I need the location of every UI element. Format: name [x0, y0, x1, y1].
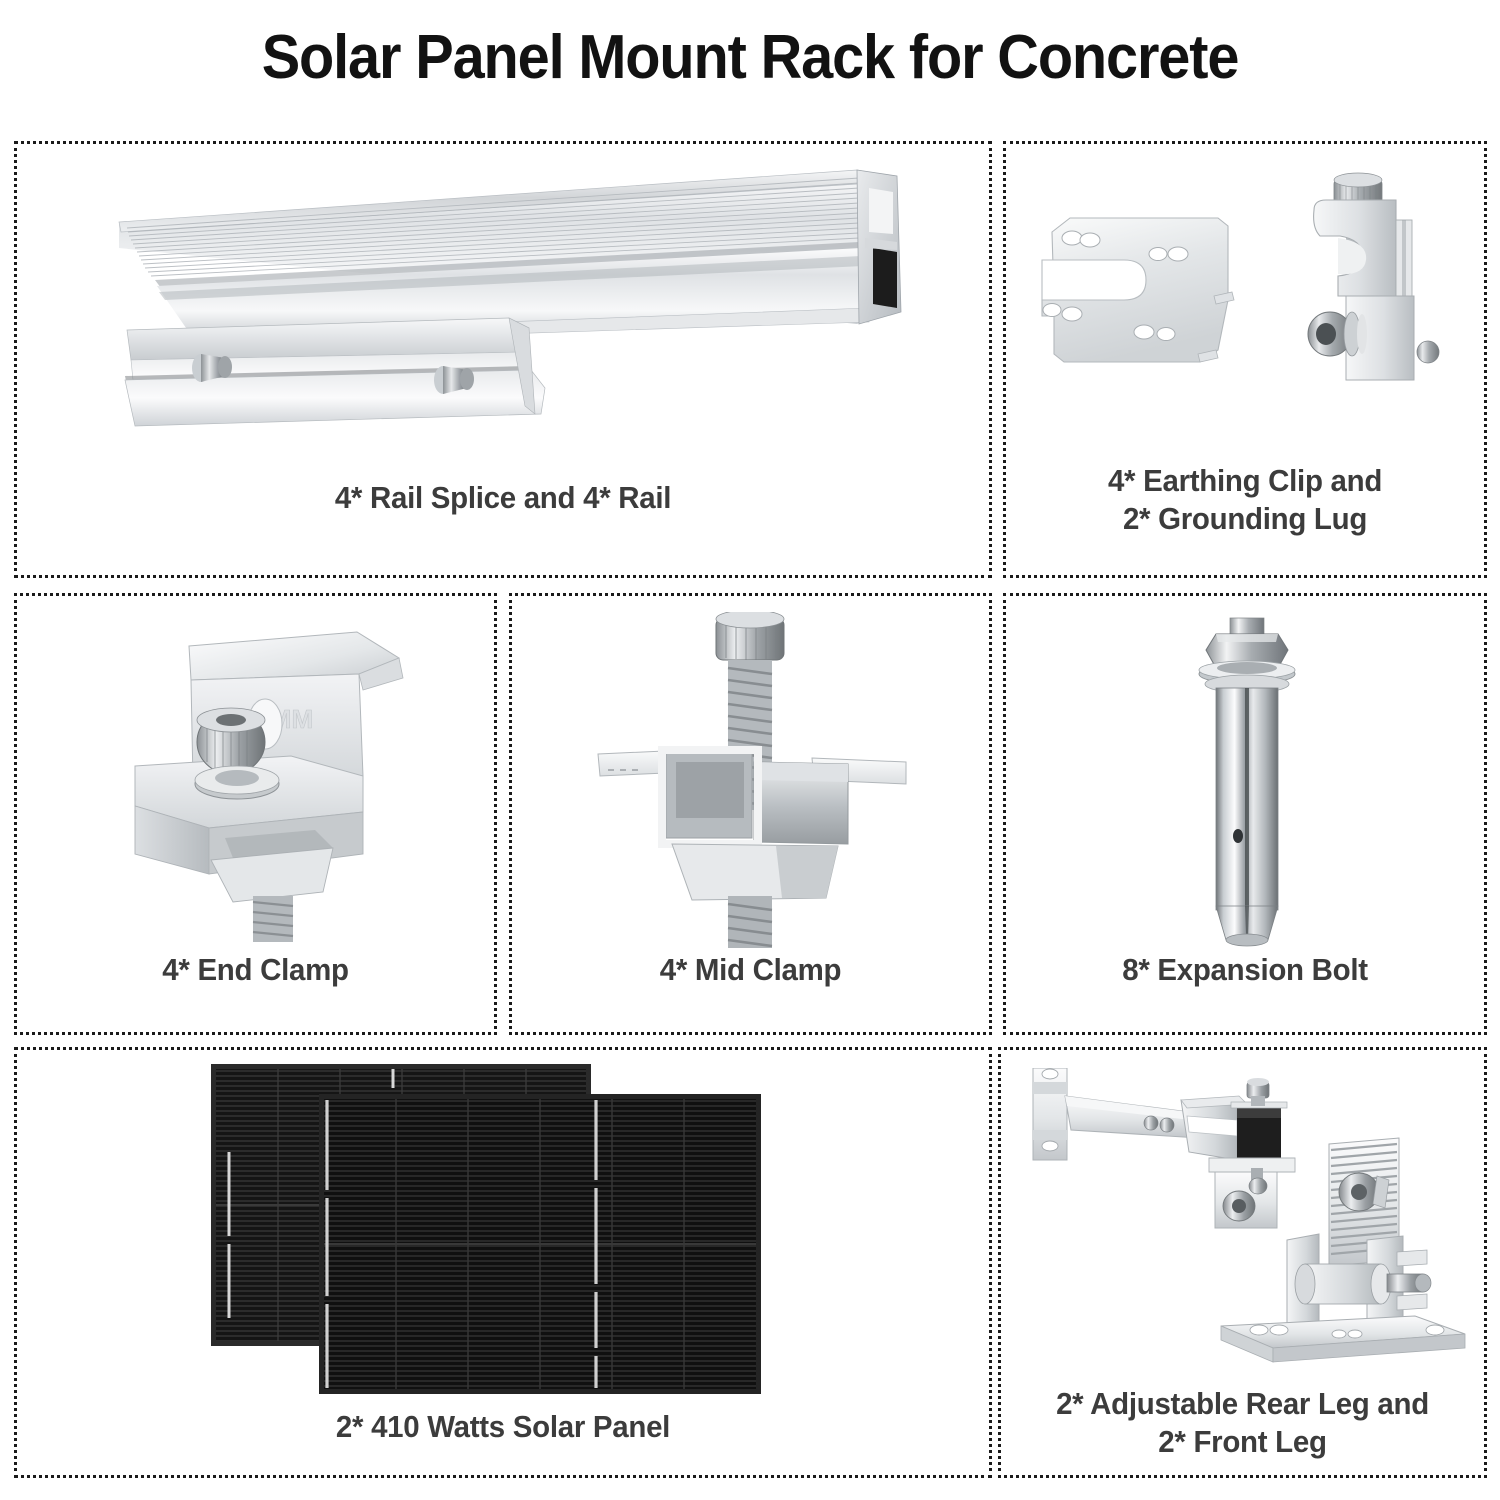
cell-solar-panel: 2* 410 Watts Solar Panel: [14, 1047, 992, 1478]
leg-assembly-icon: [1011, 1068, 1481, 1378]
expansion-bolt-icon: [1168, 610, 1328, 950]
caption-rail-splice-and-rail: 4* Rail Splice and 4* Rail: [41, 479, 964, 517]
solar-panel-front: [319, 1094, 761, 1394]
caption-earthing-clip-line2: 2* Grounding Lug: [1018, 500, 1472, 538]
infographic-page: Solar Panel Mount Rack for Concrete: [0, 0, 1500, 1500]
mid-clamp-icon: [576, 612, 926, 952]
caption-mid-clamp: 4* Mid Clamp: [524, 951, 977, 989]
rail-splice-icon: [105, 314, 575, 454]
caption-expansion-bolt: 8* Expansion Bolt: [1018, 951, 1472, 989]
earthing-clip-icon: [1028, 204, 1308, 404]
cell-earthing-clip-and-grounding-lug: 4* Earthing Clip and 2* Grounding Lug: [1003, 141, 1487, 578]
end-clamp-icon: 30MM: [127, 616, 427, 946]
caption-end-clamp: 4* End Clamp: [29, 951, 482, 989]
rear-leg-icon: [1033, 1068, 1295, 1228]
cell-rail-splice-and-rail: 4* Rail Splice and 4* Rail: [14, 141, 992, 578]
cell-mid-clamp: 4* Mid Clamp: [509, 593, 992, 1035]
grounding-lug-icon: [1278, 166, 1468, 426]
cell-adjustable-rear-leg-and-front-leg: 2* Adjustable Rear Leg and 2* Front Leg: [998, 1047, 1487, 1478]
caption-leg-line2: 2* Front Leg: [1013, 1423, 1472, 1461]
caption-leg-line1: 2* Adjustable Rear Leg and: [1013, 1385, 1472, 1423]
caption-earthing-clip-line1: 4* Earthing Clip and: [1018, 462, 1472, 500]
solar-panel-icon: [207, 1060, 767, 1400]
caption-solar-panel: 2* 410 Watts Solar Panel: [41, 1408, 964, 1446]
cell-expansion-bolt: 8* Expansion Bolt: [1003, 593, 1487, 1035]
cell-end-clamp: 30MM: [14, 593, 497, 1035]
page-title: Solar Panel Mount Rack for Concrete: [53, 22, 1448, 93]
